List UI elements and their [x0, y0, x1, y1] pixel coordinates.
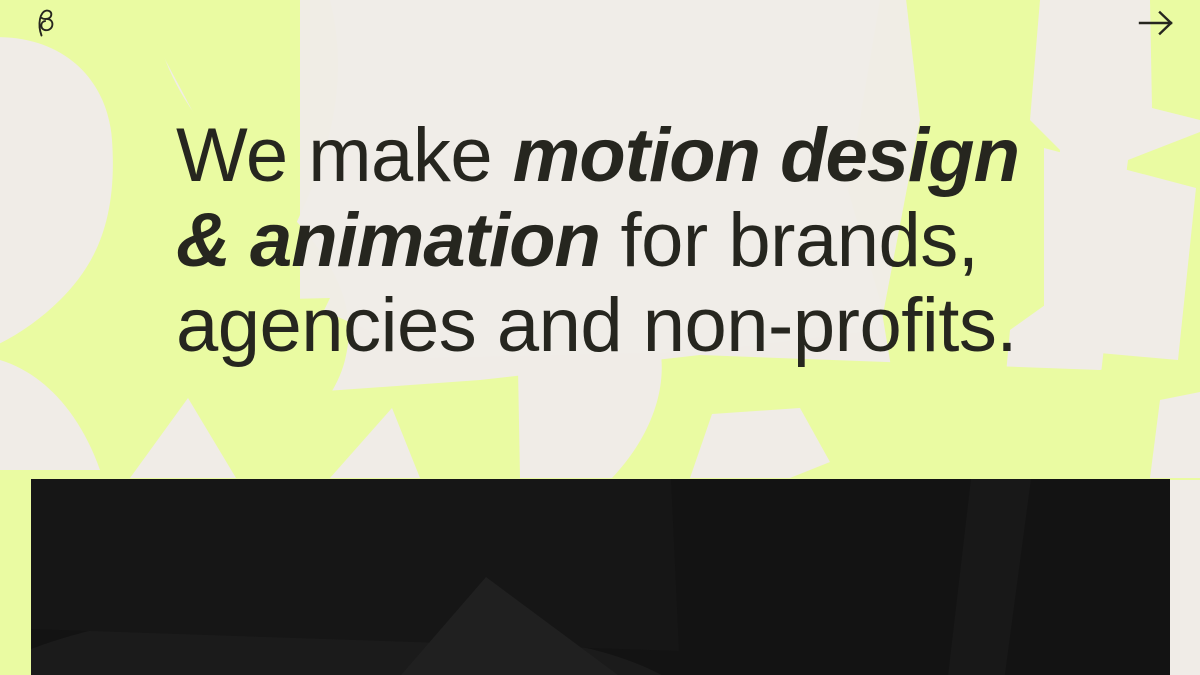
headline-emphasis-1: motion design [513, 113, 1019, 198]
panel-shape-block-left [31, 479, 679, 651]
headline-tail: for brands, [600, 198, 978, 283]
lime-wedge-right-mid [1090, 132, 1200, 470]
beige-diamond-bottom [690, 408, 830, 478]
beta-logo-icon[interactable] [30, 8, 60, 38]
hero-headline: We make motion design& animation for bra… [176, 113, 1076, 368]
showreel-panel[interactable] [31, 479, 1170, 675]
beige-notch-bottom-left [0, 360, 100, 470]
logo-link[interactable] [30, 8, 60, 38]
headline-lead: We make [176, 113, 513, 198]
headline-emphasis-2: & animation [176, 198, 600, 283]
beige-counter-left [0, 37, 113, 358]
headline-line-3: agencies and non-profits. [176, 283, 1017, 368]
beige-sliver-right [1150, 392, 1200, 478]
beige-spike-b [330, 408, 420, 478]
nav-arrow-button[interactable] [1134, 8, 1178, 38]
beige-spike-a [130, 398, 236, 478]
showreel-decoration [31, 479, 1170, 675]
page-root: We make motion design& animation for bra… [0, 0, 1200, 675]
top-bar [0, 0, 1200, 46]
arrow-right-icon[interactable] [1134, 8, 1178, 38]
